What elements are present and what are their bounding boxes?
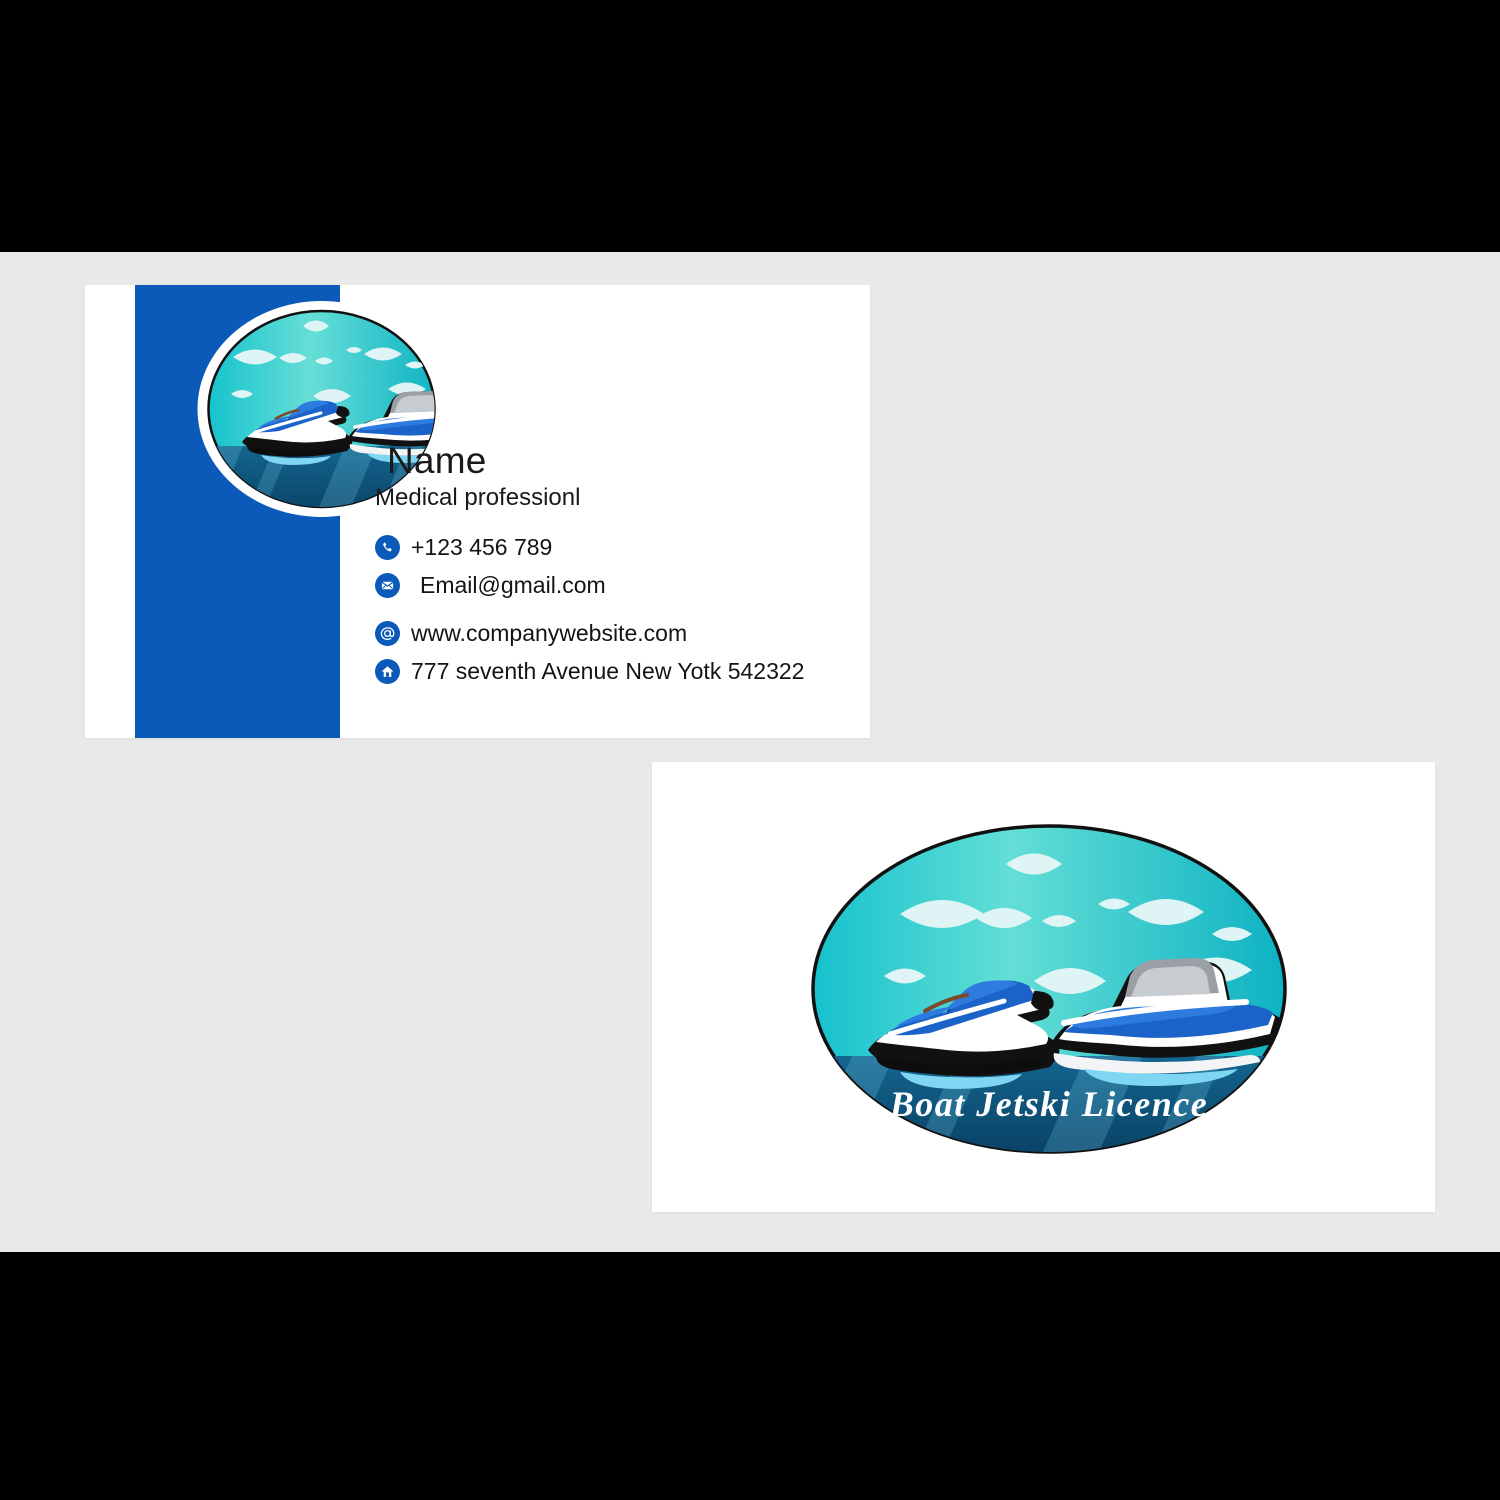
- email-value: Email@gmail.com: [420, 572, 606, 599]
- letterbox-bottom: [0, 1252, 1500, 1500]
- screenshot-stage: Name Medical professionl +123 456 789: [0, 0, 1500, 1500]
- person-role: Medical professionl: [375, 484, 845, 512]
- address-value: 777 seventh Avenue New Yotk 542322: [411, 658, 804, 685]
- phone-value: +123 456 789: [411, 534, 552, 561]
- business-card-front[interactable]: Name Medical professionl +123 456 789: [85, 285, 870, 738]
- contact-row-website[interactable]: www.companywebsite.com: [375, 620, 845, 647]
- letterbox-top: [0, 0, 1500, 252]
- logo-wordmark: Boat Jetski Licence: [889, 1084, 1208, 1124]
- contact-row-email[interactable]: Email@gmail.com: [375, 572, 845, 599]
- back-card-logo: Boat Jetski Licence Boat Jetski Licence: [810, 824, 1288, 1154]
- business-card-back[interactable]: Boat Jetski Licence Boat Jetski Licence: [652, 762, 1435, 1212]
- boat-jetski-logo-large-icon: Boat Jetski Licence: [810, 824, 1288, 1154]
- home-icon: [375, 659, 400, 684]
- design-canvas: Name Medical professionl +123 456 789: [0, 252, 1500, 1252]
- front-card-info-block: Name Medical professionl +123 456 789: [375, 440, 845, 696]
- at-icon: [375, 621, 400, 646]
- contact-row-phone[interactable]: +123 456 789: [375, 534, 845, 561]
- phone-icon: [375, 535, 400, 560]
- contact-row-address[interactable]: 777 seventh Avenue New Yotk 542322: [375, 658, 845, 685]
- person-name: Name: [387, 440, 845, 482]
- email-icon: [375, 573, 400, 598]
- website-value: www.companywebsite.com: [411, 620, 687, 647]
